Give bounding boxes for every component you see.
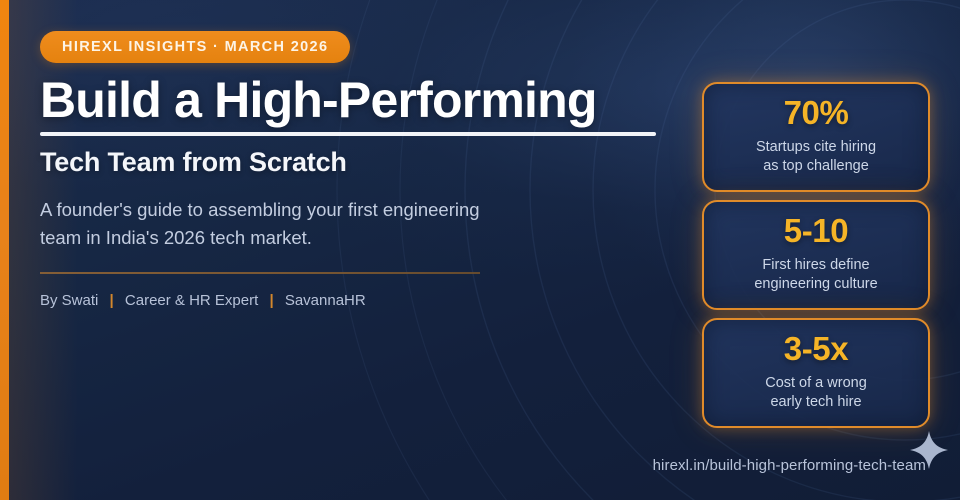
stat-card-2[interactable]: 5-10 First hires define engineering cult…	[702, 200, 930, 310]
stat-caption-line-1: First hires define	[754, 256, 877, 275]
insight-card-canvas: HIREXL INSIGHTS · MARCH 2026 Build a Hig…	[0, 0, 960, 500]
byline-role: Career & HR Expert	[125, 292, 258, 309]
stat-card-1[interactable]: 70% Startups cite hiring as top challeng…	[702, 82, 930, 192]
content-column: HIREXL INSIGHTS · MARCH 2026 Build a Hig…	[40, 0, 670, 500]
byline-org: SavannaHR	[285, 292, 366, 309]
stat-caption-line-2: as top challenge	[756, 157, 876, 176]
stat-caption-line-1: Cost of a wrong	[765, 374, 867, 393]
byline-separator-1: |	[103, 292, 121, 309]
byline-separator-2: |	[262, 292, 280, 309]
stat-caption: First hires define engineering culture	[754, 256, 877, 293]
insights-badge[interactable]: HIREXL INSIGHTS · MARCH 2026	[40, 31, 350, 63]
left-accent-bar	[0, 0, 9, 500]
stat-caption: Startups cite hiring as top challenge	[756, 138, 876, 175]
headline-line-1: Build a High-Performing	[40, 74, 597, 126]
stat-value: 70%	[784, 96, 849, 129]
stat-caption-line-2: early tech hire	[765, 393, 867, 412]
stat-caption-line-2: engineering culture	[754, 275, 877, 294]
stat-caption: Cost of a wrong early tech hire	[765, 374, 867, 411]
footer-url[interactable]: hirexl.in/build-high-performing-tech-tea…	[653, 457, 926, 474]
deck-paragraph: A founder's guide to assembling your fir…	[40, 196, 510, 252]
stat-card-list: 70% Startups cite hiring as top challeng…	[702, 82, 930, 436]
stat-card-3[interactable]: 3-5x Cost of a wrong early tech hire	[702, 318, 930, 428]
byline: By Swati | Career & HR Expert | SavannaH…	[40, 291, 366, 311]
headline-line-2: Tech Team from Scratch	[40, 146, 347, 178]
stat-caption-line-1: Startups cite hiring	[756, 138, 876, 157]
badge-label: HIREXL INSIGHTS · MARCH 2026	[62, 40, 328, 55]
headline-underline	[40, 132, 656, 136]
byline-author: By Swati	[40, 292, 98, 309]
byline-divider	[40, 272, 480, 274]
stat-value: 5-10	[784, 214, 848, 247]
stat-value: 3-5x	[784, 332, 848, 365]
